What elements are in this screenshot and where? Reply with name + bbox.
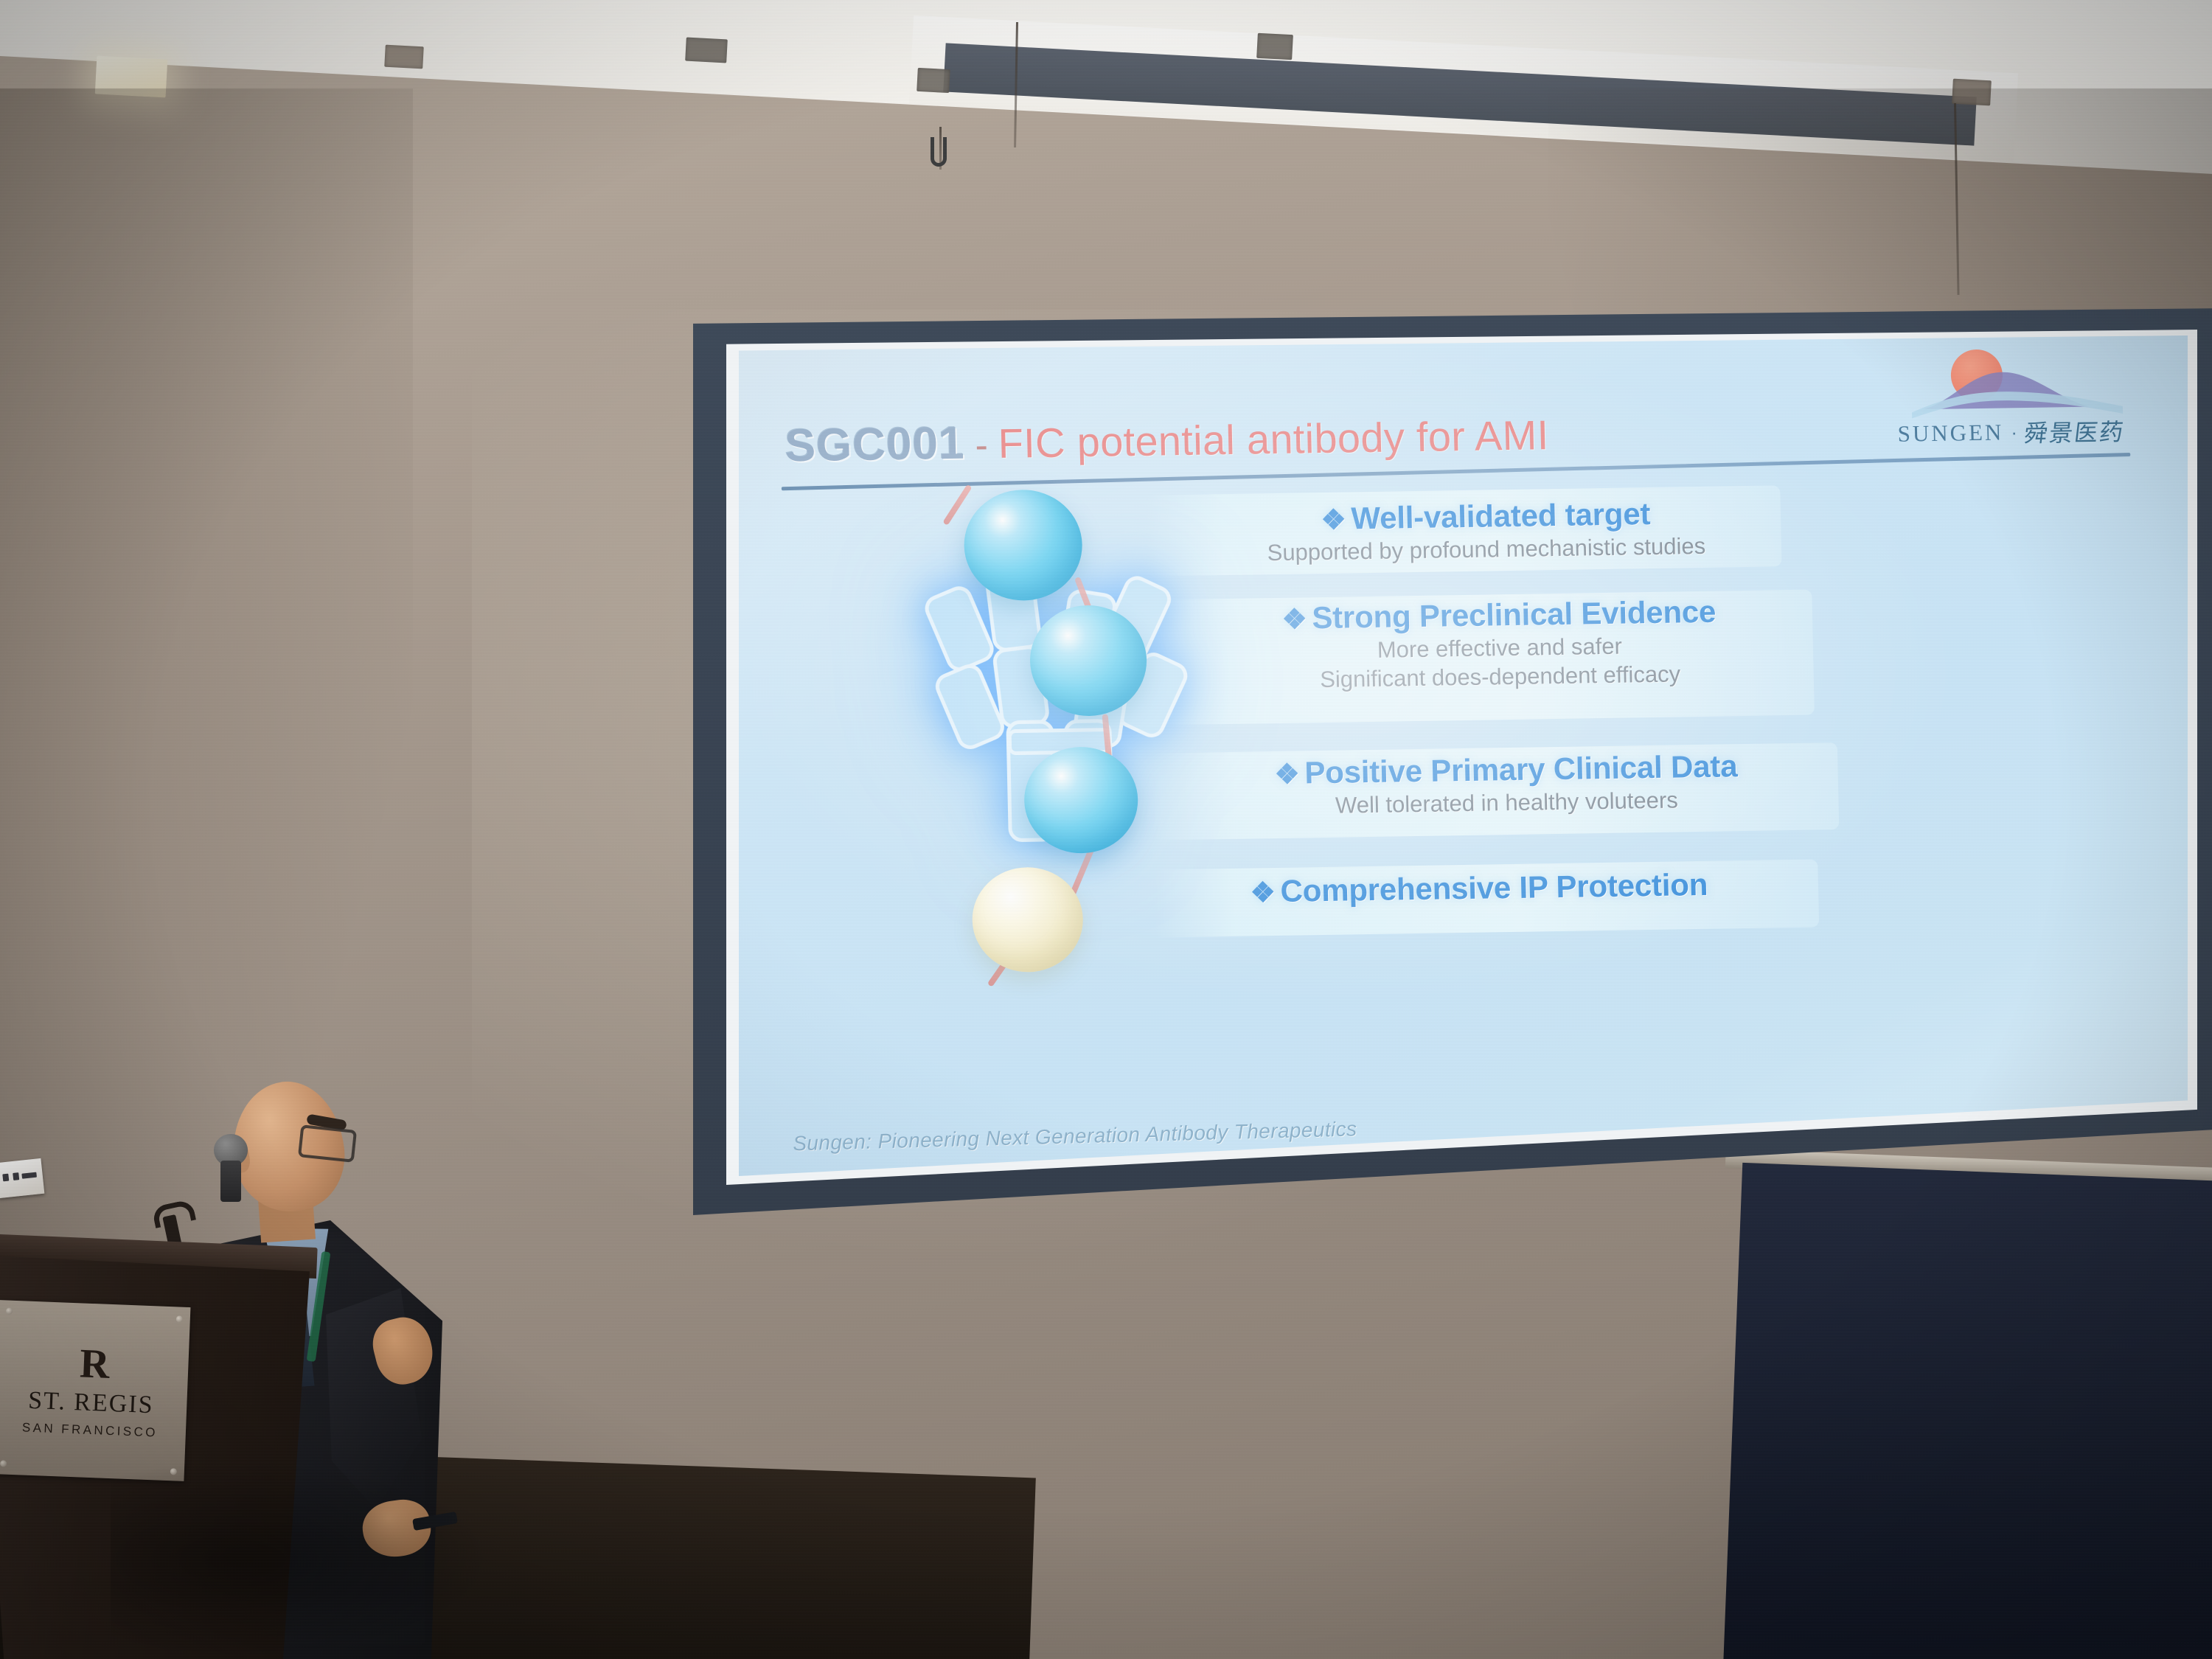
slide-vignette	[739, 335, 2188, 1176]
venue-name: ST. REGIS	[27, 1387, 154, 1420]
mic-flag	[0, 1158, 44, 1198]
venue-plaque: R ST. REGIS SAN FRANCISCO	[0, 1300, 190, 1481]
podium-shadow	[111, 1460, 494, 1659]
plaque-screw	[6, 1307, 13, 1314]
mic-body	[220, 1161, 241, 1202]
slide-content: SGC001 - FIC potential antibody for AMI	[739, 335, 2188, 1176]
st-regis-monogram-icon: R	[79, 1343, 106, 1385]
glasses-icon	[298, 1124, 357, 1163]
microphone	[214, 1134, 248, 1202]
presentation-photo: SGC001 - FIC potential antibody for AMI	[0, 0, 2212, 1659]
plaque-screw	[176, 1315, 183, 1322]
venue-city: SAN FRANCISCO	[22, 1420, 159, 1440]
plaque-screw	[0, 1460, 7, 1467]
